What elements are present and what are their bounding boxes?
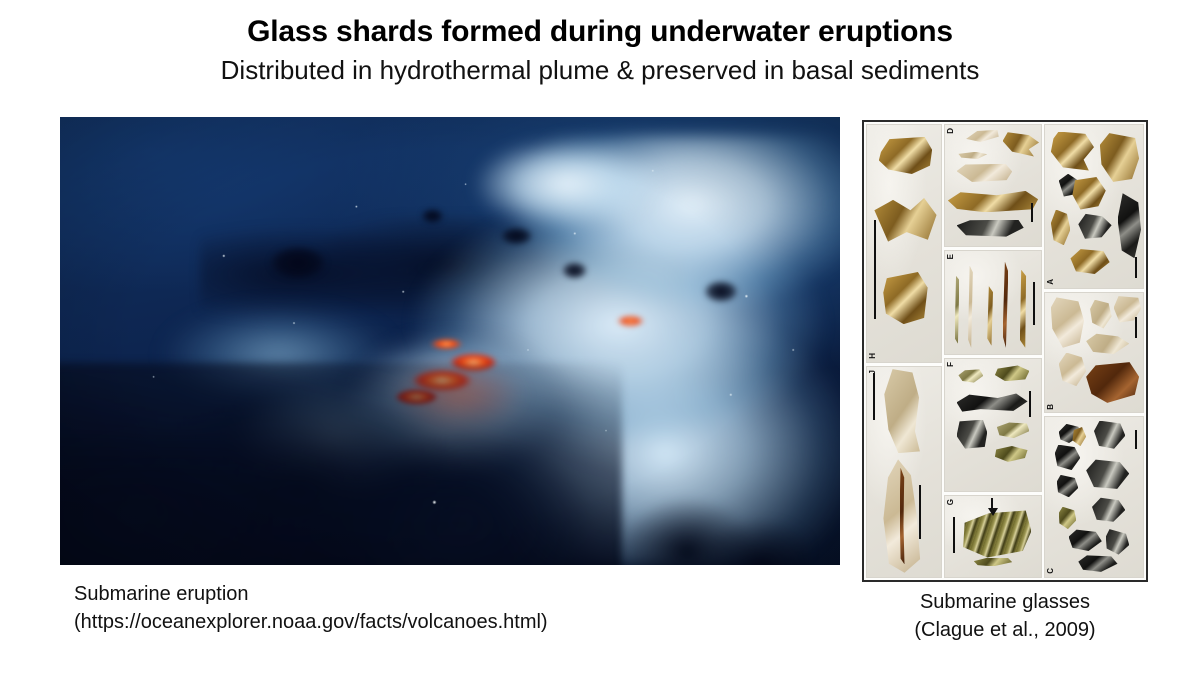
glasses-caption-citation: (Clague et al., 2009): [862, 616, 1148, 644]
scale-bar: [1031, 203, 1033, 222]
photo-vignette: [60, 117, 840, 565]
glasses-figure: H J D: [862, 120, 1148, 582]
panel-label: G: [947, 499, 955, 505]
glasses-caption: Submarine glasses (Clague et al., 2009): [862, 588, 1148, 645]
scale-bar: [919, 485, 921, 540]
montage-column-middle: D E F: [944, 124, 1042, 578]
eruption-caption-line-1: Submarine eruption: [74, 580, 548, 608]
montage-panel-b: B: [1044, 292, 1144, 414]
panel-label: H: [869, 353, 877, 359]
scale-bar: [1135, 430, 1137, 449]
montage-panel-a: A: [1044, 124, 1144, 289]
submarine-glass-shards-montage: H J D: [862, 120, 1148, 582]
title-block: Glass shards formed during underwater er…: [0, 14, 1200, 87]
eruption-figure: [60, 117, 840, 565]
scale-bar: [873, 373, 875, 419]
scale-bar: [874, 220, 876, 320]
scale-bar: [1135, 317, 1137, 339]
eruption-caption: Submarine eruption (https://oceanexplore…: [74, 580, 548, 637]
glasses-caption-line-1: Submarine glasses: [862, 588, 1148, 616]
montage-panel-j: J: [866, 366, 942, 578]
submarine-eruption-photo: [60, 117, 840, 565]
scale-bar: [1029, 391, 1031, 417]
montage-panel-d: D: [944, 124, 1042, 247]
panel-label: J: [869, 370, 877, 374]
montage-column-left: H J: [866, 124, 942, 578]
scale-bar: [953, 517, 955, 553]
scale-bar: [1033, 282, 1035, 325]
montage-panel-g: G: [944, 495, 1042, 578]
scale-bar: [1135, 257, 1137, 278]
panel-mount-background: [1045, 417, 1143, 577]
panel-mount-background: [945, 251, 1041, 354]
panel-label: C: [1047, 568, 1055, 574]
pointer-arrow-head-icon: [988, 508, 998, 516]
panel-label: B: [1047, 404, 1055, 410]
montage-panel-f: F: [944, 358, 1042, 492]
panel-label: E: [947, 254, 955, 259]
montage-panel-h: H: [866, 124, 942, 363]
eruption-caption-source-url[interactable]: (https://oceanexplorer.noaa.gov/facts/vo…: [74, 608, 548, 636]
panel-label: D: [947, 128, 955, 134]
montage-panel-e: E: [944, 250, 1042, 355]
page-title: Glass shards formed during underwater er…: [0, 14, 1200, 49]
panel-label: A: [1047, 279, 1055, 285]
page-subtitle: Distributed in hydrothermal plume & pres…: [0, 55, 1200, 86]
montage-column-right: A B: [1044, 124, 1144, 578]
montage-panel-c: C: [1044, 416, 1144, 578]
panel-label: F: [947, 362, 955, 367]
